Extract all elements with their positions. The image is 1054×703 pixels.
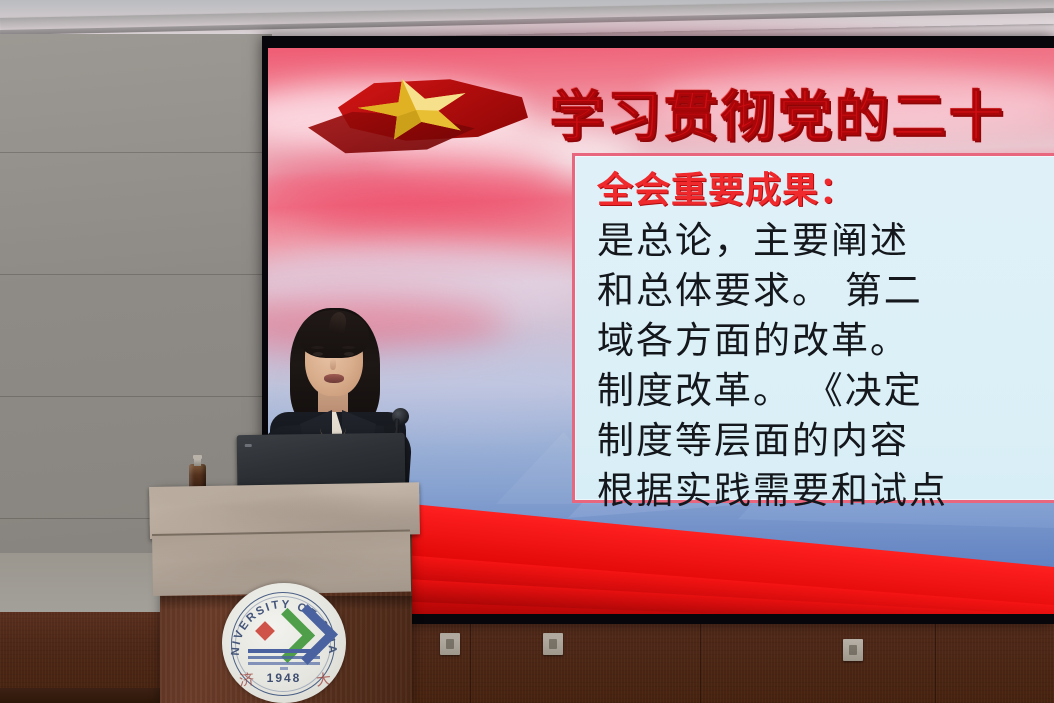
wall-outlet-3[interactable] xyxy=(843,639,863,661)
slide-textbox: 全会重要成果： 是总论，主要阐述 和总体要求。 第二 域各方面的改革。 制度改革… xyxy=(572,153,1054,503)
slide-body-line: 根据实践需要和试点 xyxy=(597,466,1054,516)
university-emblem: UNIVERSITY OF JINAN 1948 济 大 xyxy=(222,583,346,703)
wall-outlet-1[interactable] xyxy=(440,633,460,655)
slide-title: 学习贯彻党的二十 xyxy=(550,72,1006,151)
slide-heading: 全会重要成果： xyxy=(597,166,1054,216)
emblem-calligraphy-right: 大 xyxy=(315,668,332,690)
star-icon xyxy=(308,58,548,168)
slide-body-line: 域各方面的改革。 xyxy=(597,316,1054,366)
slide-body-line: 制度等层面的内容 xyxy=(597,416,1054,466)
slide-body-line: 和总体要求。 第二 xyxy=(597,266,1054,316)
screenshot-root: 学习贯彻党的二十 全会重要成果： 是总论，主要阐述 和总体要求。 第二 域各方面… xyxy=(0,0,1054,703)
mouth xyxy=(324,374,344,383)
nose xyxy=(330,358,336,370)
gold-star-graphic xyxy=(308,58,548,168)
emblem-calligraphy-left: 济 xyxy=(238,668,255,690)
slide-body-line: 制度改革。 《决定 xyxy=(597,366,1054,416)
slide-body-line: 是总论，主要阐述 xyxy=(597,216,1054,266)
wall-outlet-2[interactable] xyxy=(543,633,563,655)
wall-panel-lower xyxy=(0,553,176,613)
